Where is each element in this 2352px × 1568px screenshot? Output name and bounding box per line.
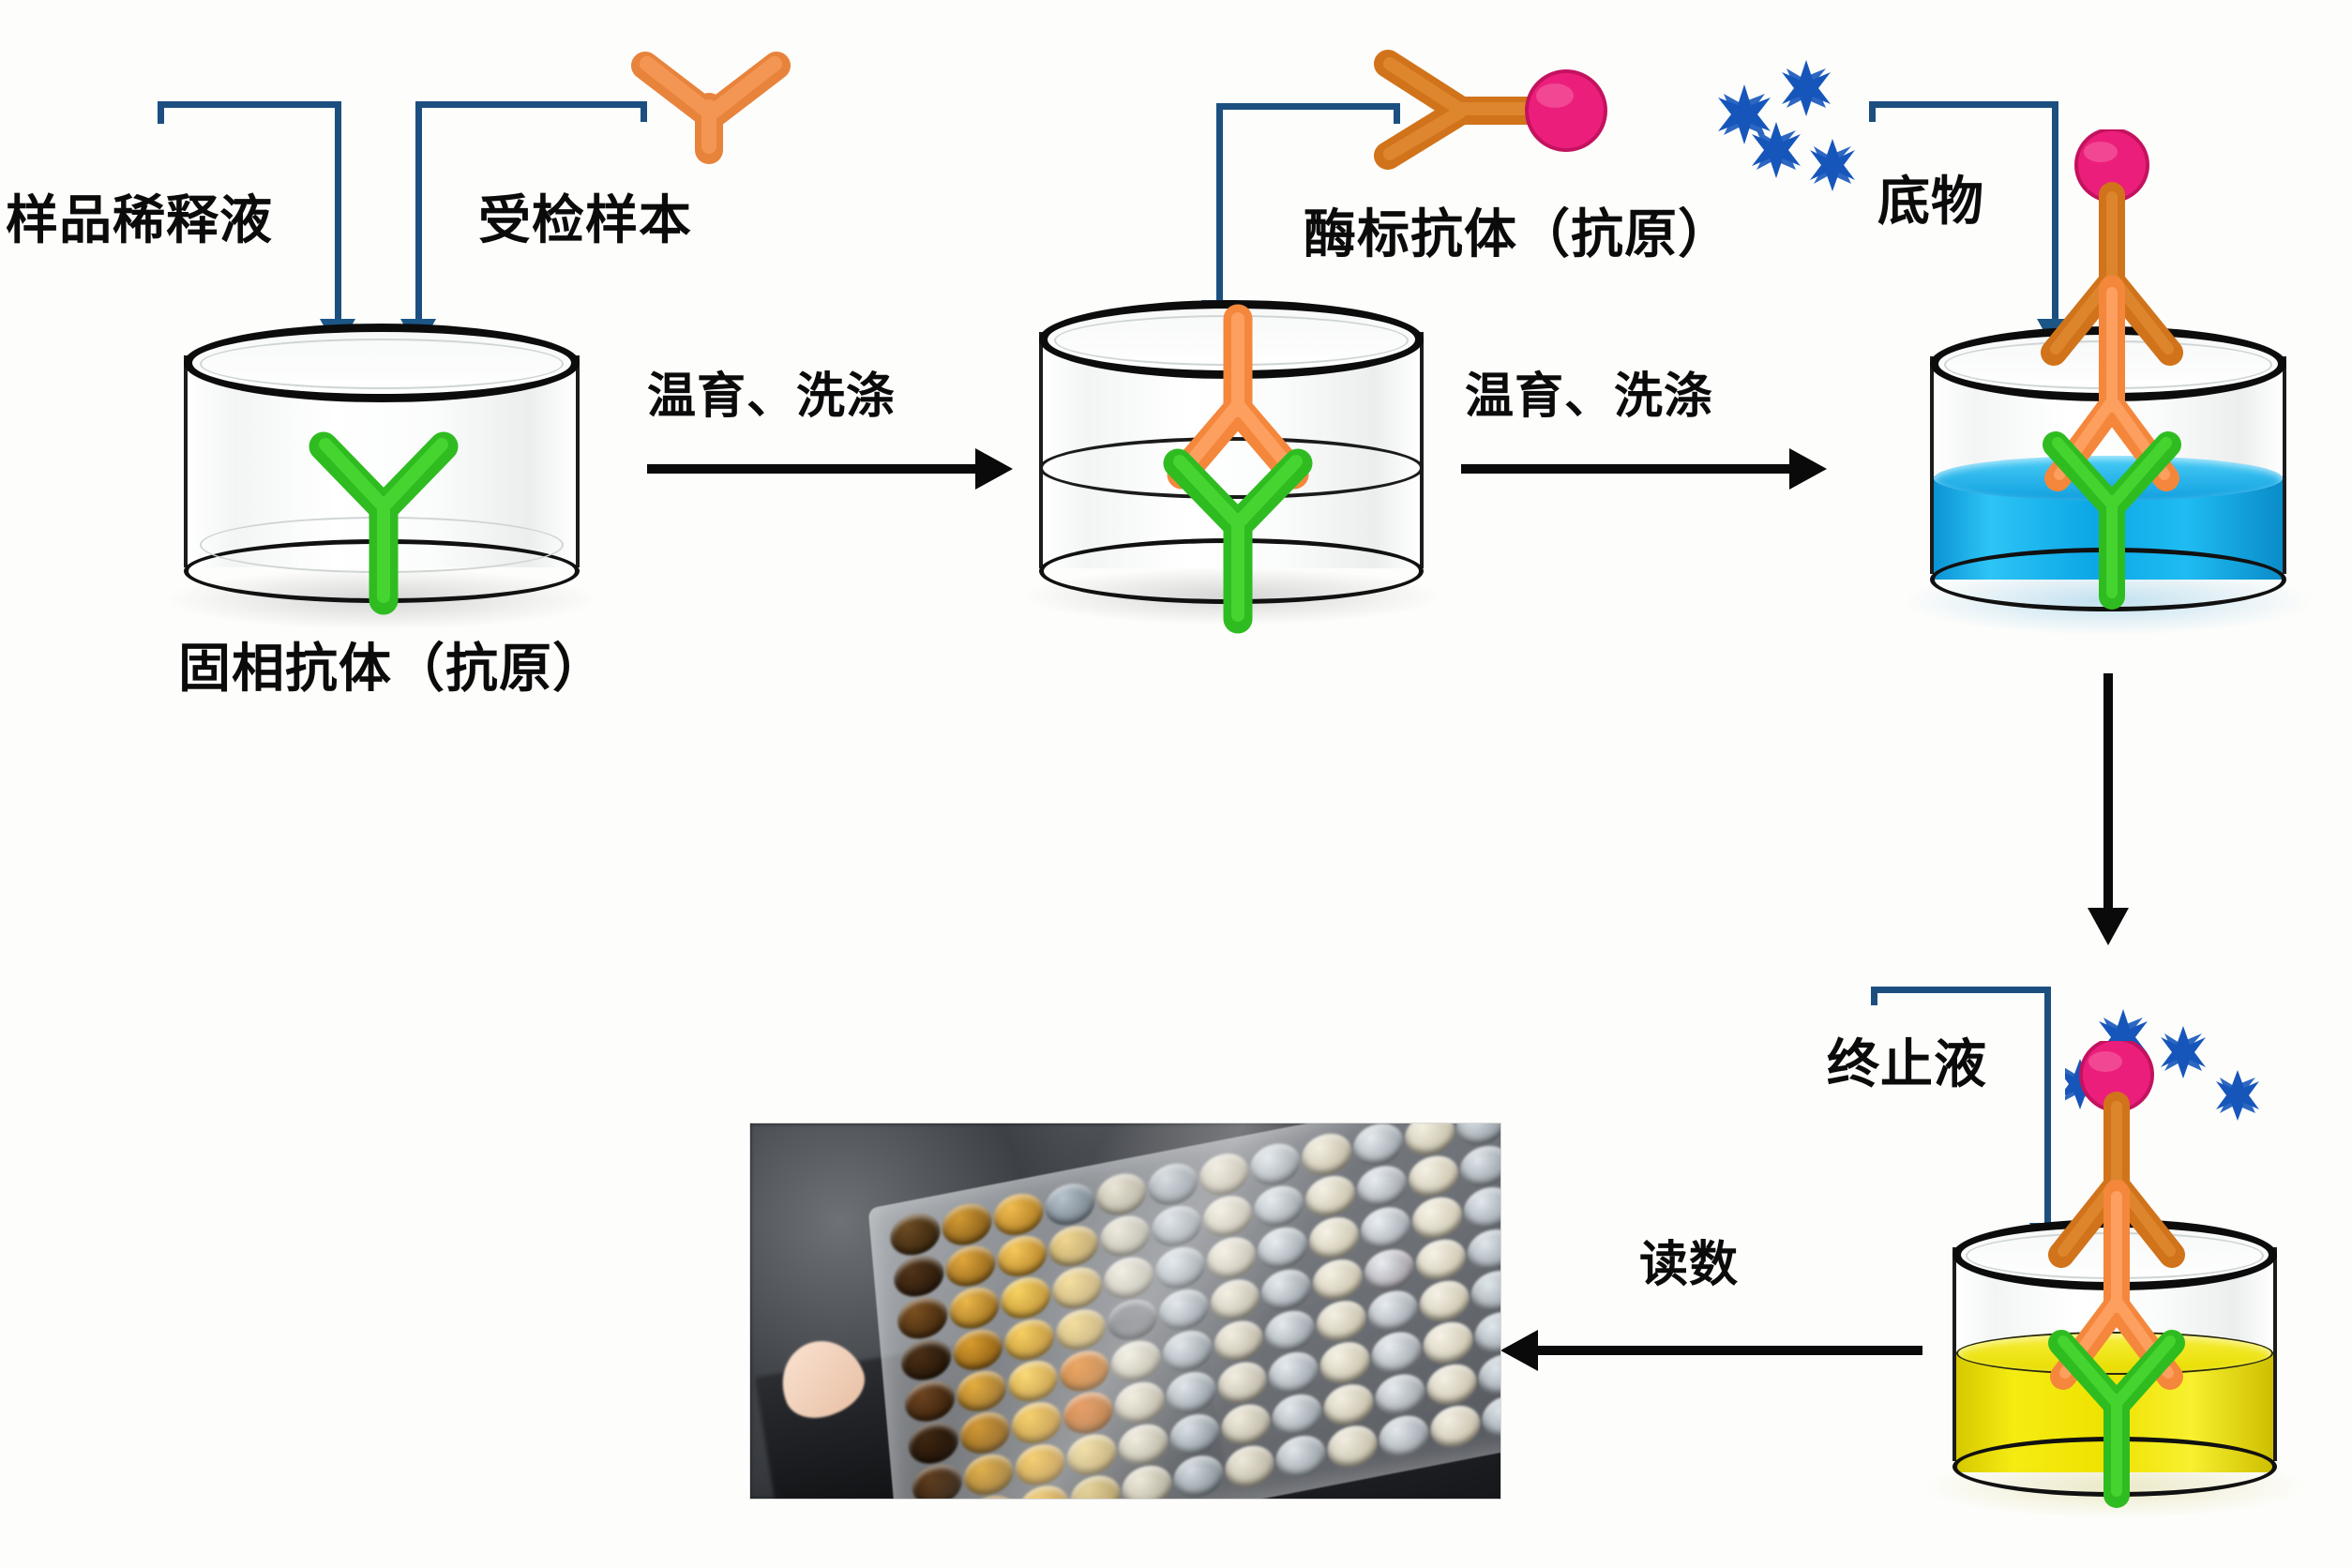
label-enzyme-labeled-antibody: 酶标抗体（抗原） [1304, 192, 1731, 268]
arrow-shaft [1536, 1346, 1922, 1355]
label-stop-solution: 终止液 [1827, 1022, 1987, 1098]
label-sample-diluent: 样品稀释液 [6, 178, 273, 254]
icon-test-sample-antibody [619, 45, 797, 167]
connector-stop-horizontal [1871, 987, 2051, 993]
sandwich-complex-step-4 [2011, 1041, 2223, 1510]
arrow-head [1500, 1330, 1538, 1371]
process-arrow-3-down [2088, 673, 2129, 945]
antibody-solid-phase-green [299, 422, 468, 619]
process-arrow-1 [647, 448, 1013, 490]
icon-enzyme-labeled-antibody [1362, 39, 1615, 171]
arrow-head [1789, 448, 1827, 490]
connector-substrate-stub [1869, 101, 1876, 122]
arrow-head [975, 448, 1013, 490]
connector-enzyme-ab-drop [1216, 103, 1223, 308]
elisa-diagram: 样品稀释液 受检样本 [0, 0, 2352, 1568]
label-solid-phase-antibody: 固相抗体（抗原） [178, 626, 606, 702]
connector-sample-vertical [415, 101, 422, 326]
arrow-head [2088, 908, 2129, 945]
label-incubate-wash-2: 温育、洗涤 [1465, 356, 1713, 427]
connector-stop-stub [1871, 987, 1877, 1005]
arrow-shaft [647, 464, 977, 474]
connector-diluent-horizontal [158, 101, 341, 108]
well-step-4 [1952, 1219, 2277, 1500]
connector-substrate-horizontal [1869, 101, 2058, 108]
label-incubate-wash-1: 温育、洗涤 [647, 356, 896, 427]
label-reading: 读数 [1639, 1225, 1739, 1295]
well-step-3 [1930, 326, 2286, 617]
process-arrow-2 [1461, 448, 1827, 490]
microplate-photograph [750, 1123, 1500, 1499]
label-test-sample: 受检样本 [478, 178, 692, 254]
icon-substrate-stars [1705, 56, 1874, 206]
connector-diluent-drop [335, 101, 341, 326]
arrow-shaft [1461, 464, 1791, 474]
well-step-2 [1039, 300, 1424, 610]
arrow-shaft [2103, 673, 2113, 910]
well-step-1 [184, 324, 580, 610]
well-rim-inner-highlight [200, 339, 564, 389]
process-arrow-reading [1500, 1330, 1922, 1371]
connector-diluent-vertical [158, 101, 164, 124]
connector-sample-horizontal [415, 101, 647, 108]
label-substrate: 底物 [1877, 159, 1984, 235]
antibody-solid-phase-green [1153, 439, 1322, 638]
sandwich-complex-step-3 [1999, 129, 2224, 617]
photo-glare [750, 1123, 1500, 1499]
